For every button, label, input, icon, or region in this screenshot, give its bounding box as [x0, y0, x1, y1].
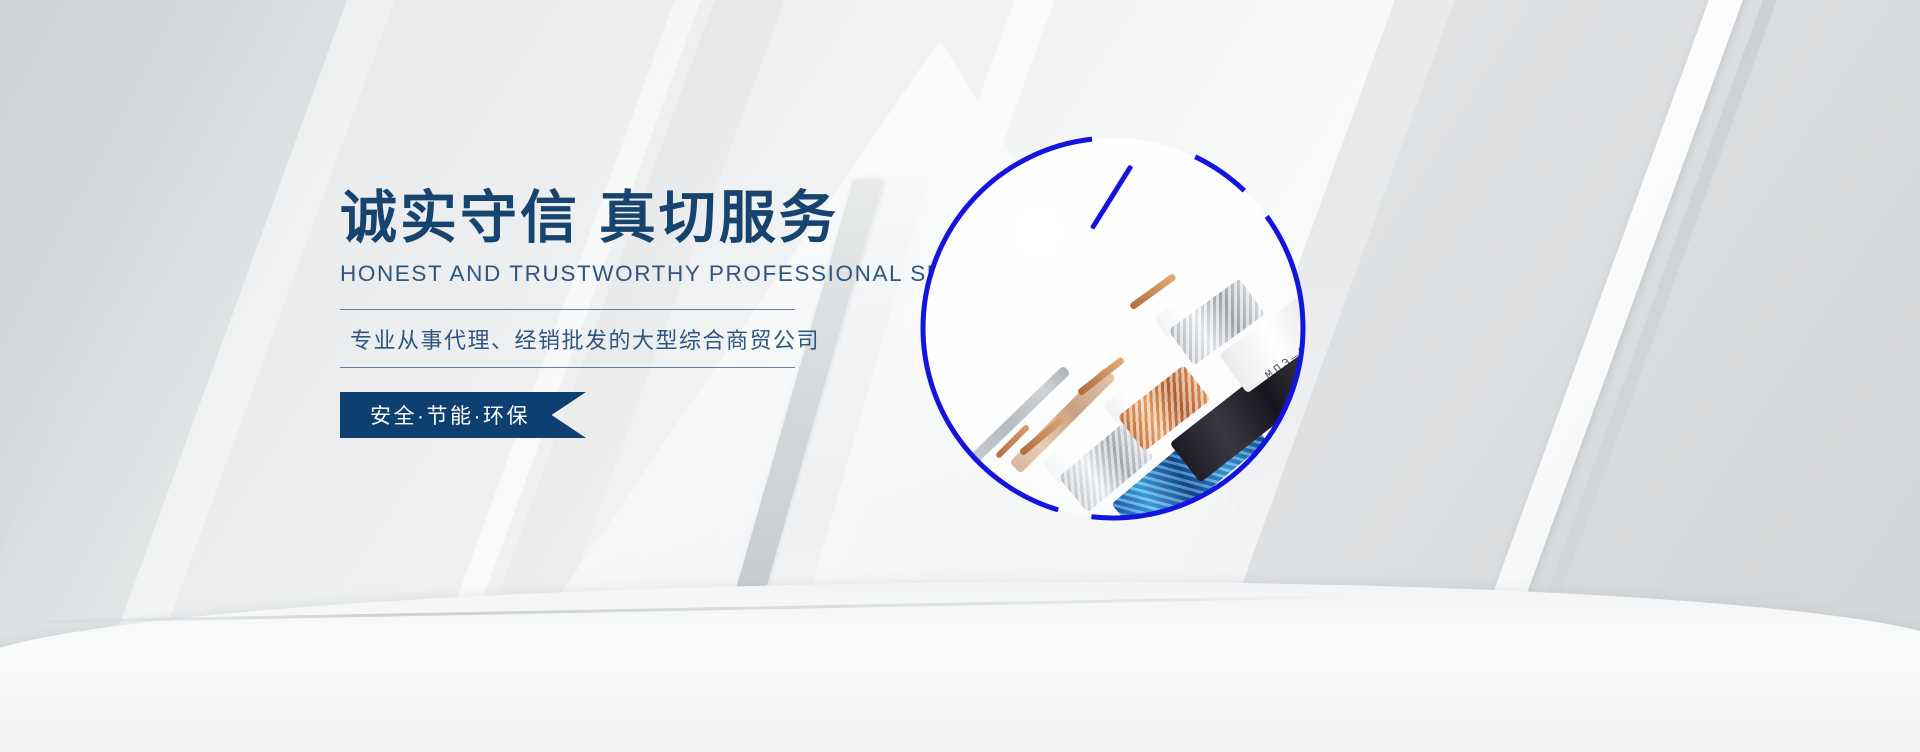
feature-ribbon-label: 安全·节能·环保 — [370, 400, 530, 430]
banner-text-block: 诚实守信 真切服务 HONEST AND TRUSTWORTHY PROFESS… — [340, 186, 960, 438]
banner-description: 专业从事代理、经销批发的大型综合商贸公司 — [350, 323, 960, 355]
banner-headline: 诚实守信 真切服务 — [340, 186, 960, 251]
banner-subtitle-english: HONEST AND TRUSTWORTHY PROFESSIONAL SERV… — [340, 261, 960, 287]
divider-bottom — [340, 367, 795, 368]
hero-banner: 诚实守信 真切服务 HONEST AND TRUSTWORTHY PROFESS… — [0, 0, 1920, 752]
divider-top — [340, 309, 795, 310]
feature-ribbon-tag: 安全·节能·环保 — [340, 392, 586, 438]
cable-5-core — [1129, 273, 1177, 310]
background-floor — [0, 582, 1920, 752]
